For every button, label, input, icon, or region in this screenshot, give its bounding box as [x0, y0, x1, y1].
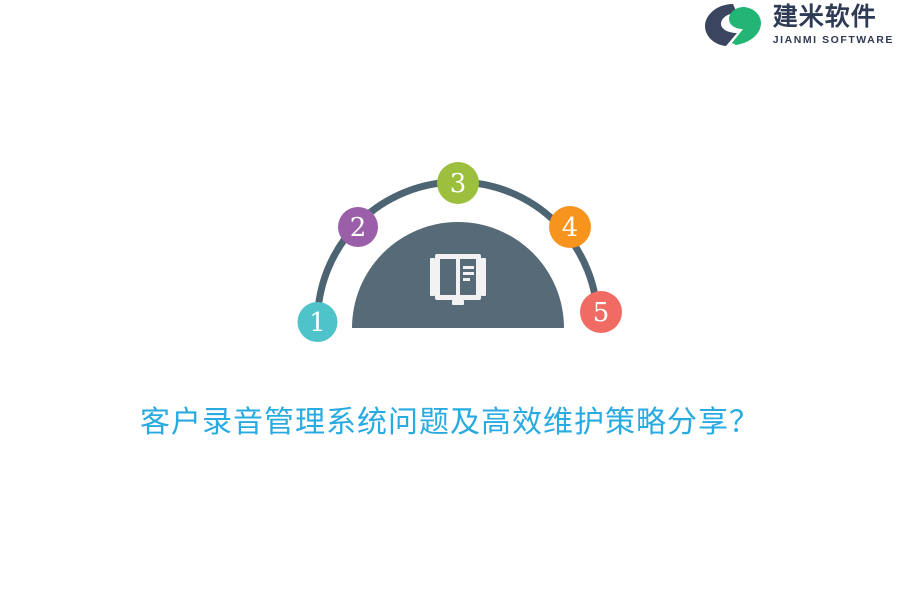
step-circle-3-label: 3 [450, 169, 467, 199]
page-title: 客户录音管理系统问题及高效维护策略分享？ [0, 400, 900, 445]
step-circle-2-label: 2 [350, 213, 367, 243]
step-circle-3[interactable]: 3 [437, 162, 479, 204]
open-book-icon [430, 254, 486, 305]
step-circle-5-label: 5 [593, 298, 610, 328]
brand-logo: 建米软件 JIANMI SOFTWARE [699, 0, 898, 50]
process-diagram: 1 2 3 4 5 [0, 150, 900, 350]
brand-subtitle: JIANMI SOFTWARE [773, 35, 894, 46]
step-circle-1[interactable]: 1 [298, 302, 338, 342]
step-circle-5[interactable]: 5 [580, 291, 622, 333]
process-diagram-graphic: 1 2 3 4 5 [280, 150, 630, 350]
jianmi-logo-icon [703, 2, 765, 48]
step-circle-4[interactable]: 4 [549, 206, 591, 248]
step-circle-2[interactable]: 2 [338, 207, 378, 247]
step-circle-4-label: 4 [562, 213, 579, 243]
step-circle-1-label: 1 [309, 308, 326, 338]
brand-text-block: 建米软件 JIANMI SOFTWARE [773, 4, 894, 46]
brand-name: 建米软件 [773, 4, 877, 30]
